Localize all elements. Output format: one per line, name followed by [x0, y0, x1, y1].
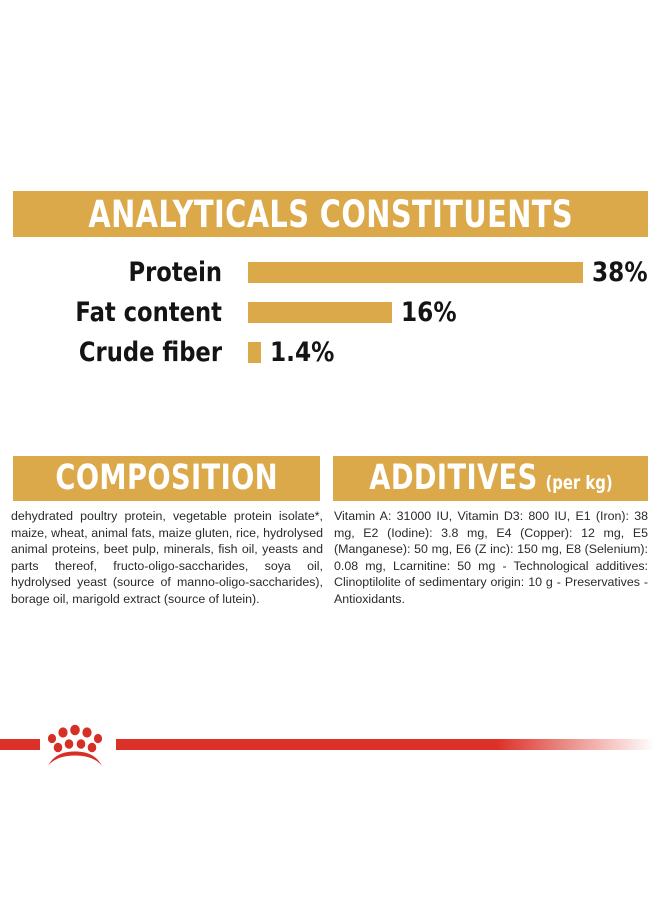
chart-bar-value: 1.4% [270, 339, 334, 366]
chart-row: Crude fiber 1.4% [0, 332, 660, 372]
chart-bar-crude-fiber [248, 342, 261, 363]
additives-subtitle: (per kg) [545, 474, 612, 493]
chart-bar-label: Fat content [36, 299, 222, 326]
chart-bar-value: 38% [592, 259, 648, 286]
chart-row: Protein 38% [0, 252, 660, 292]
analyticals-constituents-title: ANALYTICALS CONSTITUENTS [88, 196, 573, 233]
composition-banner: COMPOSITION [13, 456, 320, 501]
footer-rule-right-segment [116, 739, 660, 750]
chart-bar-protein [248, 262, 583, 283]
additives-body-text: Vitamin A: 31000 IU, Vitamin D3: 800 IU,… [334, 508, 648, 608]
additives-banner: ADDITIVES (per kg) [333, 456, 648, 501]
chart-bar-fat-content [248, 302, 392, 323]
additives-title: ADDITIVES [369, 461, 537, 496]
nutrient-bar-chart: Protein 38% Fat content 16% Crude fiber … [0, 252, 660, 372]
composition-body-text: dehydrated poultry protein, vegetable pr… [11, 508, 323, 608]
chart-row: Fat content 16% [0, 292, 660, 332]
additives-title-group: ADDITIVES (per kg) [369, 461, 612, 496]
chart-bar-value: 16% [401, 299, 457, 326]
composition-title: COMPOSITION [55, 461, 278, 496]
footer-rule-left-segment [0, 739, 40, 750]
chart-bar-group: 16% [248, 299, 466, 326]
royal-canin-crown-paw-logo [44, 722, 106, 768]
chart-bar-group: 1.4% [248, 339, 345, 366]
chart-bar-label: Crude fiber [36, 339, 222, 366]
chart-bar-group: 38% [248, 259, 657, 286]
analyticals-constituents-banner: ANALYTICALS CONSTITUENTS [13, 191, 648, 237]
chart-bar-label: Protein [36, 259, 222, 286]
